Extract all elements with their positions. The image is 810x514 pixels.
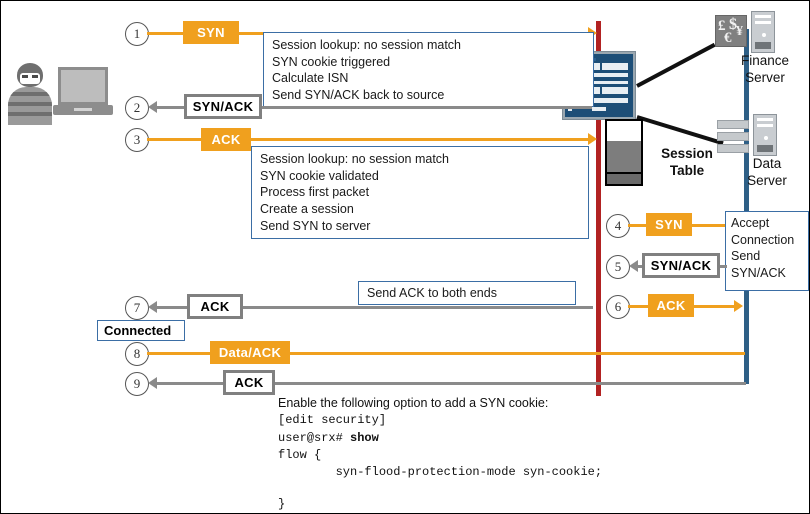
link-firewall-to-finance [636,43,716,88]
step-number-9: 9 [125,372,149,396]
step-7-badge-ack: ACK [187,294,243,319]
session-table-label: Session Table [649,146,725,180]
cli-line-prompt: user@srx# show [278,430,698,447]
note-line: Session lookup: no session match [272,37,585,54]
firewall-card-slot [602,87,628,94]
note-line: Send SYN/ACK back to source [272,87,585,104]
note-line: SYN cookie validated [260,168,580,185]
step-9-badge-ack: ACK [223,370,275,395]
data-server-label: Data Server [725,156,809,190]
syn-cookie-trigger-note: Session lookup: no session match SYN coo… [263,32,594,107]
connected-status-badge: Connected [97,320,185,341]
step-number-6: 6 [606,295,630,319]
note-line: Send ACK to both ends [367,285,567,302]
note-line: Process first packet [260,184,580,201]
attacker-body [8,87,52,125]
data-server-label-line1: Data [725,156,809,173]
note-line: SYN/ACK [731,265,803,282]
laptop-screen [58,67,108,105]
finance-server-bezel [755,21,771,24]
finance-server-grill [755,42,771,49]
note-line: Calculate ISN [272,70,585,87]
step-8-badge-data-ack: Data/ACK [210,341,290,364]
finance-server-icon [751,11,775,53]
firewall-card-slot [602,63,628,70]
step-number-3: 3 [125,128,149,152]
data-server-bezel [757,124,773,127]
note-line: Send SYN to server [260,218,580,235]
attacker-stripe [8,112,52,116]
cli-prompt-text: user@srx# [278,431,350,445]
attacker-figure [7,63,53,125]
cli-line-blank [278,482,698,496]
syn-cookie-validate-note: Session lookup: no session match SYN coo… [251,146,589,239]
attacker-stripe [8,102,52,106]
cli-config-block: Enable the following option to add a SYN… [278,394,698,513]
finance-server-led [762,33,766,37]
diagram-canvas: Session Table £ $ ¥ € Finance Server Dat… [0,0,810,514]
finance-server-bezel [755,15,771,18]
step-7-arrowhead [148,301,157,313]
session-table-label-line1: Session [649,146,725,163]
step-number-7: 7 [125,296,149,320]
session-table-footer [607,172,641,184]
laptop-icon [53,67,115,123]
disk-array-icon [717,144,749,153]
server-accept-note: Accept Connection Send SYN/ACK [725,211,809,291]
finance-server-label-line1: Finance [723,53,807,70]
step-6-badge-ack: ACK [648,294,694,317]
session-table-label-line2: Table [649,163,725,180]
disk-array-icon [717,120,749,129]
cli-line-flow-open: flow { [278,447,698,464]
link-firewall-to-data [636,115,723,145]
send-ack-both-ends-note: Send ACK to both ends [358,281,576,305]
attacker-eye-left [22,75,28,78]
note-line: Send [731,248,803,265]
currency-glyph-yen: ¥ [736,25,743,39]
data-server-icon [753,114,777,156]
data-server-grill [757,145,773,152]
note-line: SYN cookie triggered [272,54,585,71]
attacker-eye-right [32,75,38,78]
firewall-card-slot [592,107,606,111]
note-line: Accept [731,215,803,232]
data-server-led [764,136,768,140]
currency-glyph-euro: € [724,31,732,46]
data-server-bezel [757,118,773,121]
step-4-badge-syn: SYN [646,213,692,236]
attacker-stripe [8,92,52,96]
step-2-badge-syn-ack: SYN/ACK [184,94,262,119]
step-3-arrowhead [588,133,597,145]
cli-line-syn-flood-mode: syn-flood-protection-mode syn-cookie; [278,464,698,481]
note-line: Connection [731,232,803,249]
step-number-4: 4 [606,214,630,238]
cli-command-show: show [350,431,379,445]
step-number-1: 1 [125,22,149,46]
cli-line-edit-security: [edit security] [278,412,698,429]
cli-line-flow-close: } [278,496,698,513]
step-number-2: 2 [125,96,149,120]
session-table-fill [607,141,641,172]
step-6-arrowhead [734,300,743,312]
data-server-label-line2: Server [725,173,809,190]
step-1-badge-syn: SYN [183,21,239,44]
finance-server-label: Finance Server [723,53,807,87]
finance-server-label-line2: Server [723,70,807,87]
step-9-arrowhead [148,377,157,389]
step-number-8: 8 [125,342,149,366]
step-number-5: 5 [606,255,630,279]
step-2-arrowhead [148,101,157,113]
step-5-arrowhead [629,260,638,272]
note-line: Session lookup: no session match [260,151,580,168]
session-table-icon [605,119,643,186]
step-3-badge-ack: ACK [201,128,251,151]
cli-intro-text: Enable the following option to add a SYN… [278,394,698,412]
note-line: Create a session [260,201,580,218]
step-5-badge-syn-ack: SYN/ACK [642,253,720,278]
disk-array-icon [717,132,749,141]
currency-icon: £ $ ¥ € [715,15,747,47]
laptop-trackpad [74,108,92,111]
